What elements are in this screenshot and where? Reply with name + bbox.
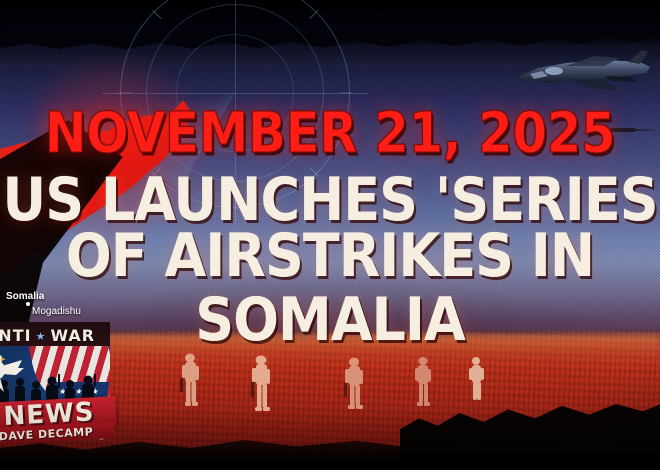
date-line: NOVEMBER 21, 2025 (0, 101, 660, 166)
logo-top-text: ANTI★WAR (0, 326, 95, 345)
logo-top-bar: ANTI★WAR (0, 322, 110, 348)
thumbnail-canvas: Somalia Mogadishu NOVEMBER 21, 2025 US L… (0, 0, 660, 470)
soldier-silhouette-icon (342, 356, 368, 416)
soldier-silhouette-icon (248, 354, 276, 420)
headline-line-2: OF AIRSTRIKES IN (0, 221, 660, 290)
logo-subtitle-text: DAVE DECAMP (0, 425, 94, 443)
dove-icon (0, 350, 24, 394)
soldier-silhouette-icon (466, 356, 488, 408)
antiwar-news-logo: ANTI★WAR ★ ★ ★ (0, 322, 110, 442)
star-icon: ★ (36, 330, 47, 343)
logo-emblem-area: ★ ★ ★ (0, 346, 110, 404)
soldier-silhouette-icon (178, 352, 204, 414)
fighter-jet-icon (508, 46, 656, 102)
soldier-silhouette-icon (412, 356, 436, 412)
